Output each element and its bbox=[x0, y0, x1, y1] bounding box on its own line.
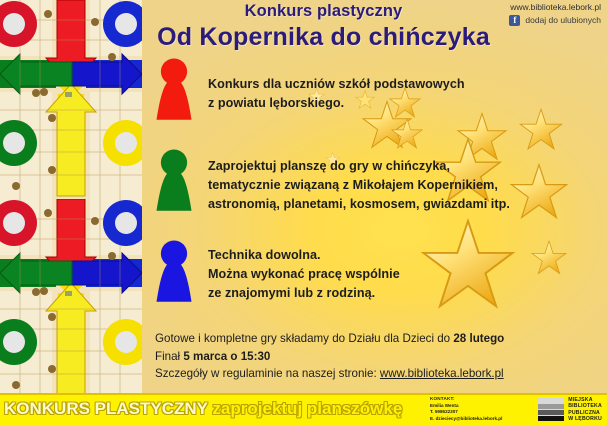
banner-headline: KONKURS PLASTYCZNY zaprojektuj planszówk… bbox=[4, 399, 402, 419]
favourites-block: www.biblioteka.lebork.pl f dodaj do ulub… bbox=[509, 1, 601, 26]
block-text-1: Konkurs dla uczniów szkół podstawowych z… bbox=[208, 75, 593, 113]
contact-block: KONTAKT: Emilia Wenta T. 598622307 E. dz… bbox=[430, 396, 502, 422]
facebook-icon[interactable]: f bbox=[509, 15, 520, 26]
rules-text: Szczegóły w regulaminie na naszej stroni… bbox=[155, 367, 380, 380]
library-logo: MIEJSKA BIBLIOTEKA PUBLICZNA W LĘBORKU bbox=[538, 397, 602, 423]
website-url-footer[interactable]: www.biblioteka.lebork.pl bbox=[380, 367, 504, 380]
ludo-board-graphic bbox=[0, 199, 142, 398]
poster-title: Od Kopernika do chińczyka bbox=[0, 23, 607, 52]
website-url-top[interactable]: www.biblioteka.lebork.pl bbox=[509, 1, 601, 13]
final-line: Finał 5 marca o 15:30 bbox=[155, 348, 600, 366]
footer-details: Gotowe i kompletne gry składamy do Dział… bbox=[155, 330, 600, 383]
contact-email[interactable]: E. dzieciecy@biblioteka.lebork.pl bbox=[430, 416, 502, 423]
logo-line-2: BIBLIOTEKA bbox=[568, 403, 602, 409]
library-logo-mark bbox=[538, 397, 564, 422]
banner-strong: KONKURS PLASTYCZNY bbox=[4, 399, 208, 418]
ludo-board-tile bbox=[0, 199, 142, 398]
library-logo-words: MIEJSKA BIBLIOTEKA PUBLICZNA W LĘBORKU bbox=[568, 397, 602, 423]
block-text-2: Zaprojektuj planszę do gry w chińczyka, … bbox=[208, 157, 598, 214]
add-to-favourites-label[interactable]: dodaj do ulubionych bbox=[525, 14, 601, 26]
contact-phone: T. 598622307 bbox=[430, 409, 502, 416]
block-text-3: Technika dowolna. Można wykonać pracę ws… bbox=[208, 246, 593, 303]
pawn-blue bbox=[152, 239, 196, 309]
deadline-line: Gotowe i kompletne gry składamy do Dział… bbox=[155, 330, 600, 348]
final-text: Finał bbox=[155, 350, 183, 363]
final-date: 5 marca o 15:30 bbox=[183, 350, 270, 363]
poster-canvas: Konkurs plastyczny Od Kopernika do chińc… bbox=[0, 0, 607, 426]
rules-line: Szczegóły w regulaminie na naszej stroni… bbox=[155, 365, 600, 383]
logo-line-4: W LĘBORKU bbox=[568, 416, 602, 422]
contact-name: Emilia Wenta bbox=[430, 403, 502, 410]
star-decoration bbox=[518, 108, 564, 153]
bottom-banner: KONKURS PLASTYCZNY zaprojektuj planszówk… bbox=[0, 393, 607, 426]
ludo-game-board bbox=[0, 0, 142, 398]
star-decoration bbox=[390, 118, 424, 151]
deadline-text: Gotowe i kompletne gry składamy do Dział… bbox=[155, 332, 453, 345]
deadline-date: 28 lutego bbox=[453, 332, 504, 345]
banner-rest: zaprojektuj planszówkę bbox=[208, 399, 403, 418]
pawn-red bbox=[152, 57, 196, 127]
contact-heading: KONTAKT: bbox=[430, 396, 502, 403]
pawn-green bbox=[152, 148, 196, 218]
